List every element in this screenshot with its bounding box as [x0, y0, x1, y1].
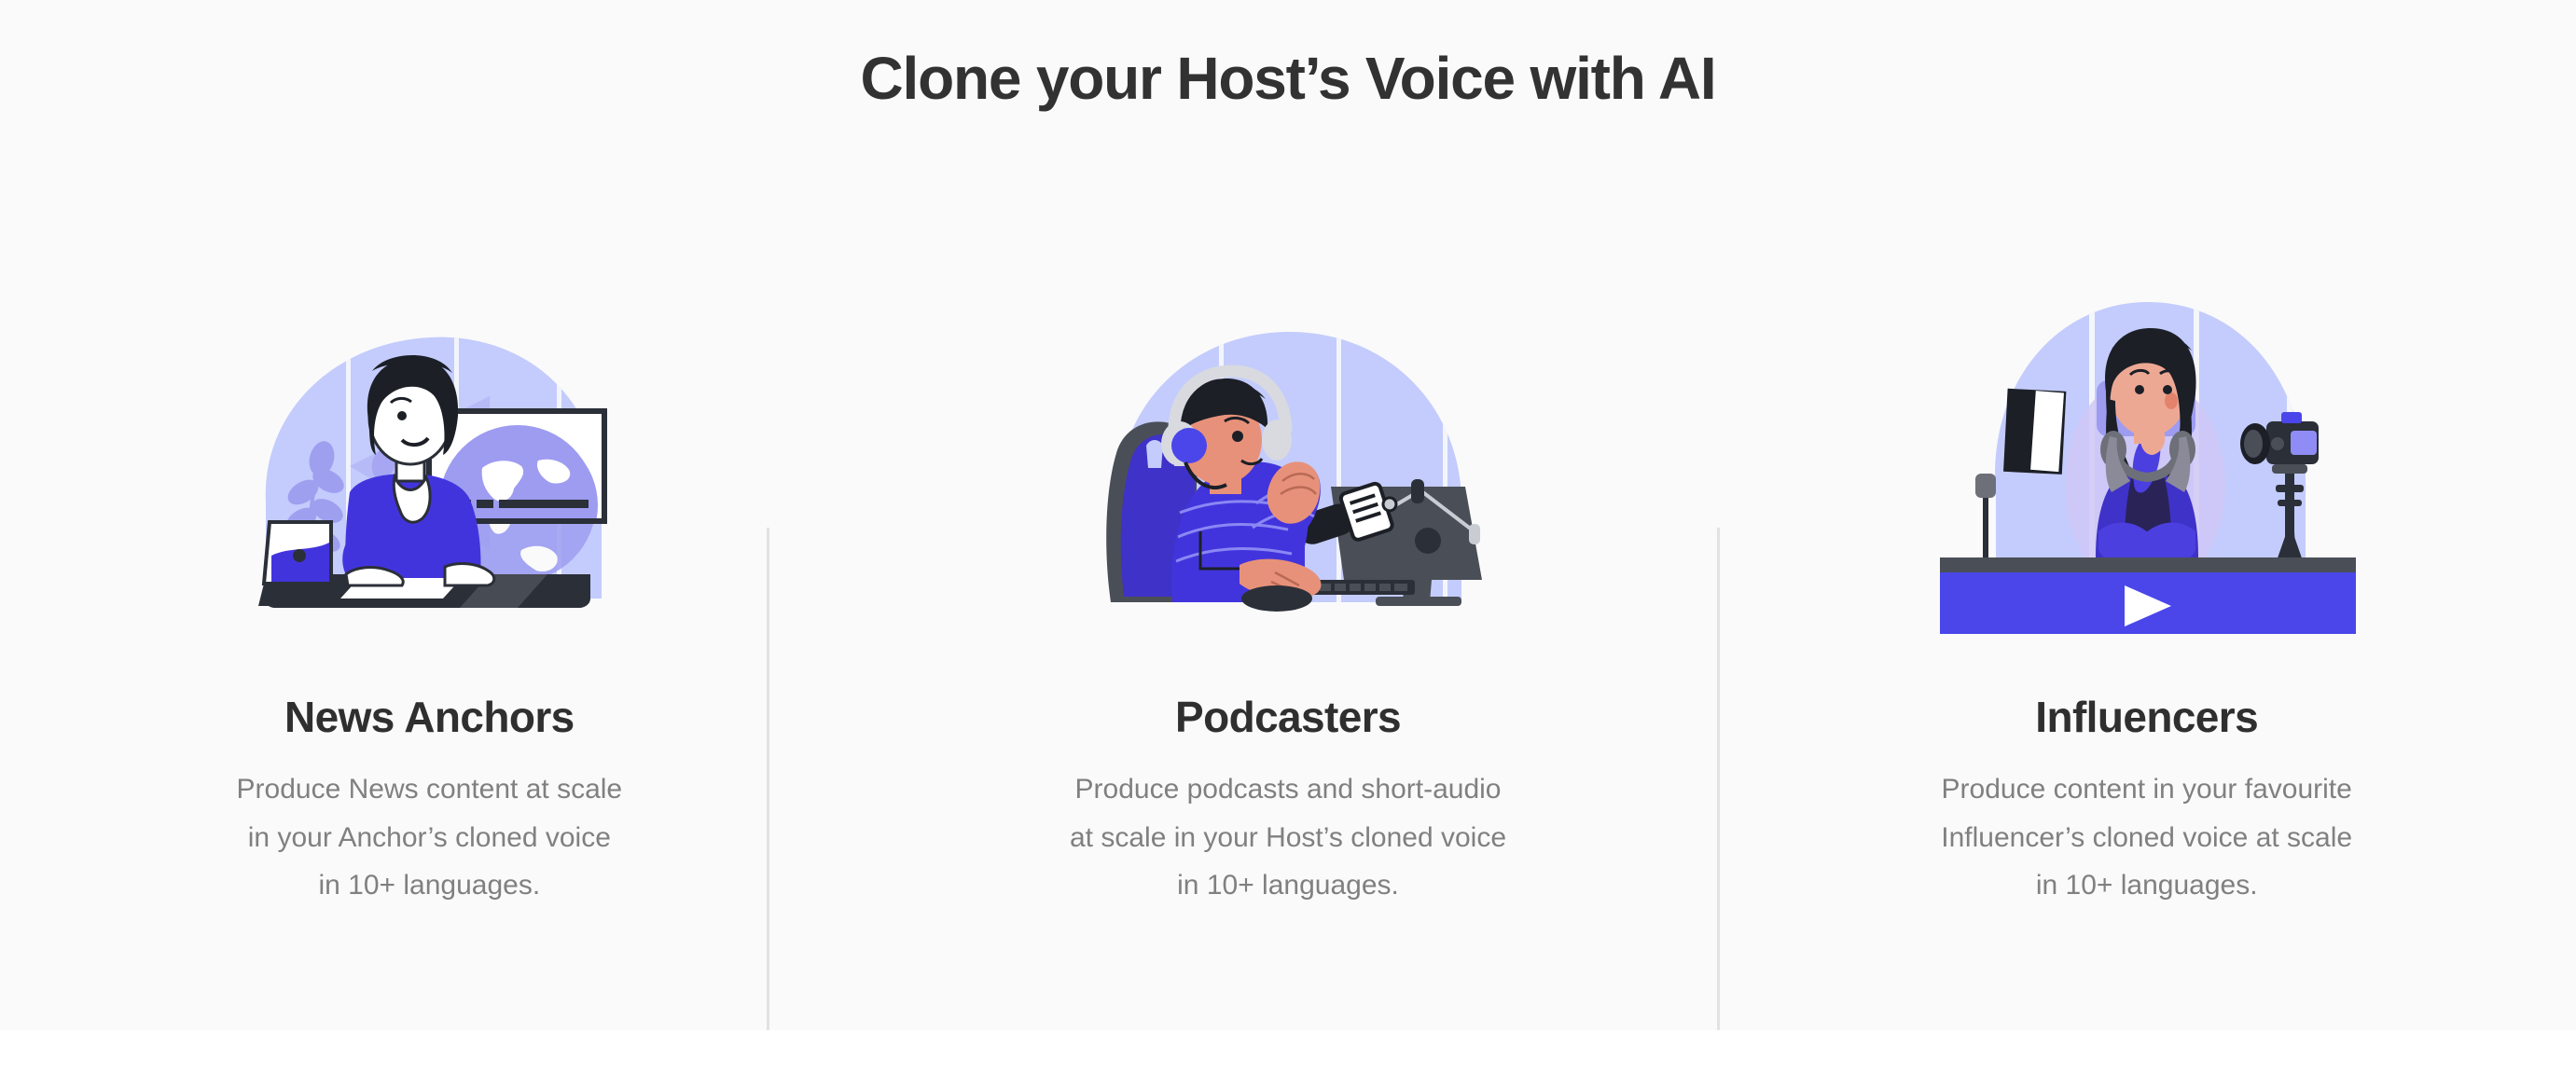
card-description-line: in your Anchor’s cloned voice	[248, 822, 611, 853]
use-cases-section: Clone your Host’s Voice with AI	[0, 0, 2576, 1030]
card-description-line: Produce content in your favourite	[1942, 774, 2352, 805]
illustration-wrapper	[859, 252, 1718, 643]
card-title: News Anchors	[284, 692, 575, 743]
influencer-illustration	[1914, 252, 2380, 643]
illustration-wrapper	[0, 252, 859, 643]
card-description-line: in 10+ languages.	[318, 870, 540, 901]
card-description: Produce News content at scale in your An…	[237, 765, 623, 910]
card-description: Produce content in your favourite Influe…	[1941, 765, 2352, 910]
news-anchor-illustration	[210, 270, 648, 643]
card-description: Produce podcasts and short-audio at scal…	[1070, 765, 1506, 910]
use-case-card-podcasters[interactable]: Podcasters Produce podcasts and short-au…	[859, 252, 1718, 910]
illustration-wrapper	[1717, 252, 2576, 643]
card-description-line: Produce podcasts and short-audio	[1075, 774, 1502, 805]
page-bottom-spacer	[0, 1030, 2576, 1087]
use-case-cards: News Anchors Produce News content at sca…	[0, 252, 2576, 910]
podcaster-illustration	[1055, 270, 1521, 643]
card-title: Podcasters	[1175, 692, 1401, 743]
page-title: Clone your Host’s Voice with AI	[0, 45, 2576, 114]
card-title: Influencers	[2035, 692, 2258, 743]
use-case-card-news-anchors[interactable]: News Anchors Produce News content at sca…	[0, 252, 859, 910]
card-description-line: Produce News content at scale	[237, 774, 623, 805]
card-description-line: in 10+ languages.	[2036, 870, 2258, 901]
card-description-line: Influencer’s cloned voice at scale	[1941, 822, 2352, 853]
card-description-line: in 10+ languages.	[1177, 870, 1399, 901]
use-case-card-influencers[interactable]: Influencers Produce content in your favo…	[1717, 252, 2576, 910]
card-description-line: at scale in your Host’s cloned voice	[1070, 822, 1506, 853]
